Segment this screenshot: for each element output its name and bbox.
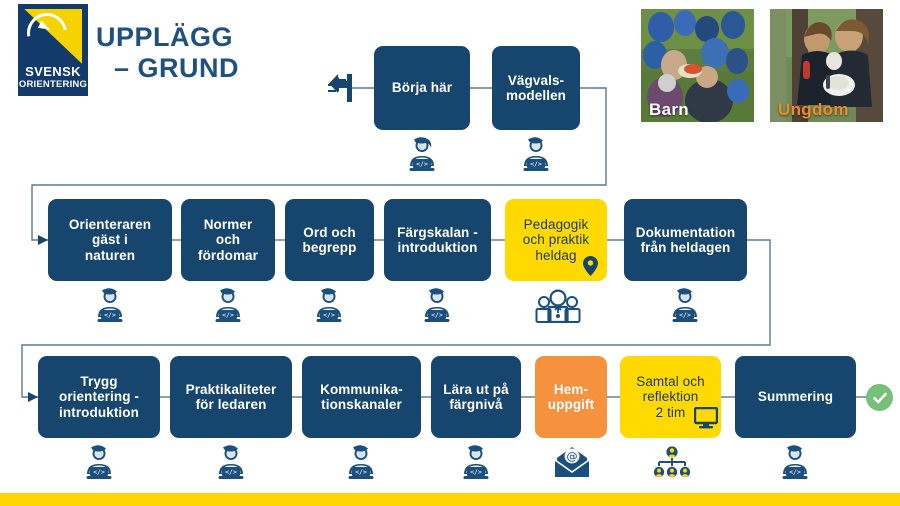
arrowhead-row3 <box>28 392 38 402</box>
flow-box-lara-ut-pa-fargniva[interactable]: Lära ut påfärgnivå <box>431 356 521 438</box>
flow-box-borja-har[interactable]: Börja här <box>374 46 470 130</box>
flow-box-dokumentation-fran-heldagen[interactable]: Dokumentationfrån heldagen <box>624 199 747 281</box>
person-at-laptop-icon: </> <box>93 287 127 328</box>
flow-box-label: Färgskalan -introduktion <box>397 225 478 256</box>
svg-text:@: @ <box>567 450 578 463</box>
flow-box-label: Tryggorientering -introduktion <box>59 374 139 421</box>
logo-text-orientering: ORIENTERING <box>18 79 88 90</box>
svg-text:</>: </> <box>222 311 234 319</box>
flow-box-summering[interactable]: Summering <box>735 356 856 438</box>
person-at-laptop-icon: </> <box>668 287 702 328</box>
logo-compass-graphic <box>24 9 82 64</box>
flow-box-label: Pedagogikoch praktikheldag <box>523 217 589 264</box>
flow-box-trygg-orientering-introduktion[interactable]: Tryggorientering -introduktion <box>38 356 160 438</box>
login-entry-icon <box>325 70 361 111</box>
flow-box-kommunikationskanaler[interactable]: Kommunika-tionskanaler <box>302 356 421 438</box>
svg-text:</>: </> <box>431 311 443 319</box>
flow-box-label: Orienterarengäst inaturen <box>69 217 151 264</box>
monitor-screen-icon <box>694 407 718 434</box>
person-at-laptop-icon: </> <box>82 444 116 485</box>
svg-text:</>: </> <box>789 468 801 476</box>
flow-box-label: Dokumentationfrån heldagen <box>636 225 736 256</box>
svg-text:</>: </> <box>323 311 335 319</box>
svg-text:</>: </> <box>104 311 116 319</box>
svg-text:</>: </> <box>416 160 428 168</box>
person-at-laptop-icon: </> <box>519 136 553 177</box>
arrowhead-row2 <box>38 235 48 245</box>
flow-box-hemuppgift[interactable]: Hem-uppgift <box>535 356 607 438</box>
email-envelope-icon: @ <box>553 446 591 483</box>
group-of-people-icon <box>535 289 581 328</box>
flow-box-label: Lära ut påfärgnivå <box>443 382 509 413</box>
bottom-accent-bar <box>0 493 900 506</box>
photo-ungdom: Ungdom <box>770 9 883 122</box>
flow-box-fargskalan-introduktion[interactable]: Färgskalan -introduktion <box>384 199 491 281</box>
svg-text:</>: </> <box>93 468 105 476</box>
person-at-laptop-icon: </> <box>344 444 378 485</box>
person-at-laptop-icon: </> <box>211 287 245 328</box>
flow-box-orienteraren-gast-i-naturen[interactable]: Orienterarengäst inaturen <box>48 199 172 281</box>
flow-box-label: Börja här <box>392 80 452 96</box>
page-title: UPPLÄGG – GRUND <box>96 22 239 84</box>
map-pin-icon <box>583 256 598 281</box>
logo-text-svensk: SVENSK <box>18 64 88 79</box>
photo-ungdom-caption: Ungdom <box>778 100 849 120</box>
page-title-line1: UPPLÄGG <box>96 22 239 53</box>
flow-box-praktikaliteter-for-ledaren[interactable]: Praktikaliteterför ledaren <box>170 356 292 438</box>
svg-text:</>: </> <box>679 311 691 319</box>
flow-box-ord-och-begrepp[interactable]: Ord ochbegrepp <box>285 199 374 281</box>
person-at-laptop-icon: </> <box>420 287 454 328</box>
photo-barn-caption: Barn <box>649 100 689 120</box>
flow-box-label: Summering <box>758 389 833 405</box>
person-at-laptop-icon: </> <box>214 444 248 485</box>
svg-text:</>: </> <box>355 468 367 476</box>
photo-barn: Barn <box>641 9 754 122</box>
svensk-orientering-logo: SVENSK ORIENTERING <box>18 4 88 96</box>
person-at-laptop-icon: </> <box>405 136 439 177</box>
check-circle-icon <box>866 384 893 411</box>
flow-box-vagvalsmodellen[interactable]: Vägvals-modellen <box>492 46 580 130</box>
flow-box-label: Praktikaliteterför ledaren <box>186 382 277 413</box>
flow-box-label: Ord ochbegrepp <box>303 225 357 256</box>
flow-box-normer-och-fordomar[interactable]: Normerochfördomar <box>181 199 275 281</box>
person-at-laptop-icon: </> <box>459 444 493 485</box>
person-at-laptop-icon: </> <box>778 444 812 485</box>
flow-box-label: Vägvals-modellen <box>506 73 566 104</box>
flow-box-label: Kommunika-tionskanaler <box>320 382 403 413</box>
svg-text:</>: </> <box>225 468 237 476</box>
person-at-laptop-icon: </> <box>312 287 346 328</box>
svg-text:</>: </> <box>530 160 542 168</box>
logo-compass-arc <box>27 13 67 53</box>
org-chart-people-icon <box>652 446 692 485</box>
page-title-line2: – GRUND <box>96 53 239 84</box>
svg-text:</>: </> <box>470 468 482 476</box>
slide-canvas: SVENSK ORIENTERING UPPLÄGG – GRUND <box>0 0 900 506</box>
flow-box-label: Hem-uppgift <box>548 382 594 413</box>
flow-box-label: Normerochfördomar <box>198 217 258 264</box>
